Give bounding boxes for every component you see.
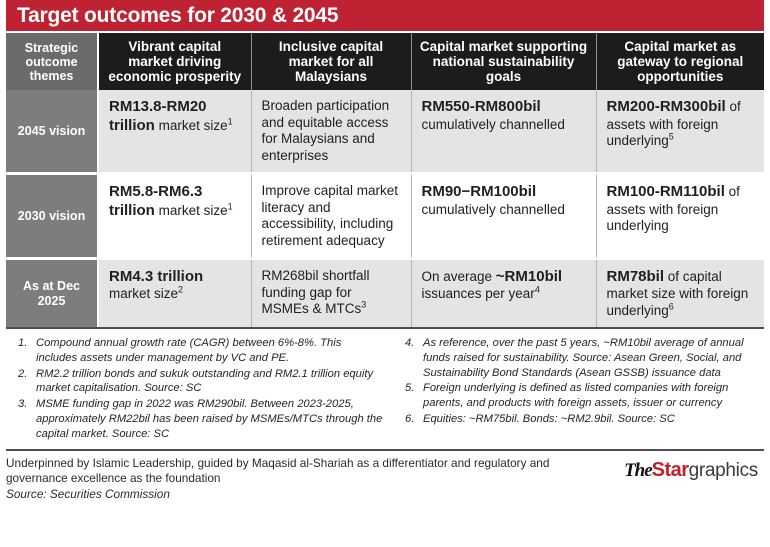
logo-star: Star — [652, 459, 689, 481]
cell-2030-vibrant: RM5.8-RM6.3 trillion market size1 — [98, 174, 251, 259]
cell-2025-inclusive: RM268bil shortfall funding gap for MSMEs… — [251, 259, 411, 328]
row-label-as-at-dec-2025: As at Dec 2025 — [6, 259, 98, 328]
table-body: 2045 vision RM13.8-RM20 trillion market … — [6, 90, 764, 327]
infographic-page: Target outcomes for 2030 & 2045 Strategi… — [0, 0, 770, 547]
cell-2025-sustainability: On average ~RM10bil issuances per year4 — [411, 259, 596, 328]
footer-statement: Underpinned by Islamic Leadership, guide… — [6, 456, 566, 487]
table-bottom-rule — [6, 327, 764, 329]
footnote-item: 6.Equities: ~RM75bil. Bonds: ~RM2.9bil. … — [393, 412, 764, 427]
cell-2030-sustainability: RM90−RM100bil cumulatively channelled — [411, 174, 596, 259]
cell-2030-regional: RM100-RM110bil of assets with foreign un… — [596, 174, 764, 259]
footnote-item: 2.RM2.2 trillion bonds and sukuk outstan… — [6, 367, 385, 397]
footnote-number: 3. — [6, 397, 36, 442]
table-row: 2045 vision RM13.8-RM20 trillion market … — [6, 90, 764, 173]
footnote-number: 2. — [6, 367, 36, 397]
column-header-inclusive-capital-market: Inclusive capital market for all Malaysi… — [251, 33, 411, 90]
cell-2025-regional: RM78bil of capital market size with fore… — [596, 259, 764, 328]
footnote-text: Foreign underlying is defined as listed … — [423, 381, 764, 411]
footnotes: 1.Compound annual growth rate (CAGR) bet… — [6, 336, 764, 442]
footnote-text: Equities: ~RM75bil. Bonds: ~RM2.9bil. So… — [423, 412, 764, 427]
target-outcomes-table: Strategic outcome themes Vibrant capital… — [6, 33, 764, 327]
footnotes-right-column: 4.As reference, over the past 5 years, ~… — [385, 336, 764, 442]
logo-graphics: graphics — [689, 460, 758, 481]
column-header-themes: Strategic outcome themes — [6, 33, 98, 90]
header-row: Strategic outcome themes Vibrant capital… — [6, 33, 764, 90]
footnote-text: RM2.2 trillion bonds and sukuk outstandi… — [36, 367, 385, 397]
footnote-text: Compound annual growth rate (CAGR) betwe… — [36, 336, 385, 366]
cell-2045-sustainability: RM550-RM800bil cumulatively channelled — [411, 90, 596, 173]
the-star-graphics-logo: TheStargraphics — [624, 459, 758, 482]
footer: Underpinned by Islamic Leadership, guide… — [6, 451, 764, 502]
cell-2045-regional: RM200-RM300bil of assets with foreign un… — [596, 90, 764, 173]
footnote-item: 1.Compound annual growth rate (CAGR) bet… — [6, 336, 385, 366]
table-header: Strategic outcome themes Vibrant capital… — [6, 33, 764, 90]
footnote-number: 1. — [6, 336, 36, 366]
row-label-2045-vision: 2045 vision — [6, 90, 98, 173]
logo-the: The — [624, 460, 652, 481]
footnote-item: 4.As reference, over the past 5 years, ~… — [393, 336, 764, 381]
footnote-number: 5. — [393, 381, 423, 411]
column-header-regional-gateway: Capital market as gateway to regional op… — [596, 33, 764, 90]
table-row: 2030 vision RM5.8-RM6.3 trillion market … — [6, 174, 764, 259]
page-title: Target outcomes for 2030 & 2045 — [17, 5, 338, 26]
cell-2045-vibrant: RM13.8-RM20 trillion market size1 — [98, 90, 251, 173]
title-bar: Target outcomes for 2030 & 2045 — [6, 0, 764, 31]
footnote-item: 5.Foreign underlying is defined as liste… — [393, 381, 764, 411]
footer-source: Source: Securities Commission — [6, 487, 764, 502]
table-row: As at Dec 2025 RM4.3 trillion market siz… — [6, 259, 764, 328]
footnote-number: 6. — [393, 412, 423, 427]
footnote-text: MSME funding gap in 2022 was RM290bil. B… — [36, 397, 385, 442]
cell-2045-inclusive: Broaden participation and equitable acce… — [251, 90, 411, 173]
column-header-sustainability-goals: Capital market supporting national susta… — [411, 33, 596, 90]
cell-2030-inclusive: Improve capital market literacy and acce… — [251, 174, 411, 259]
cell-2025-vibrant: RM4.3 trillion market size2 — [98, 259, 251, 328]
footnote-item: 3.MSME funding gap in 2022 was RM290bil.… — [6, 397, 385, 442]
column-header-vibrant-capital-market: Vibrant capital market driving economic … — [98, 33, 251, 90]
footnote-number: 4. — [393, 336, 423, 381]
row-label-2030-vision: 2030 vision — [6, 174, 98, 259]
footnotes-left-column: 1.Compound annual growth rate (CAGR) bet… — [6, 336, 385, 442]
footnote-text: As reference, over the past 5 years, ~RM… — [423, 336, 764, 381]
